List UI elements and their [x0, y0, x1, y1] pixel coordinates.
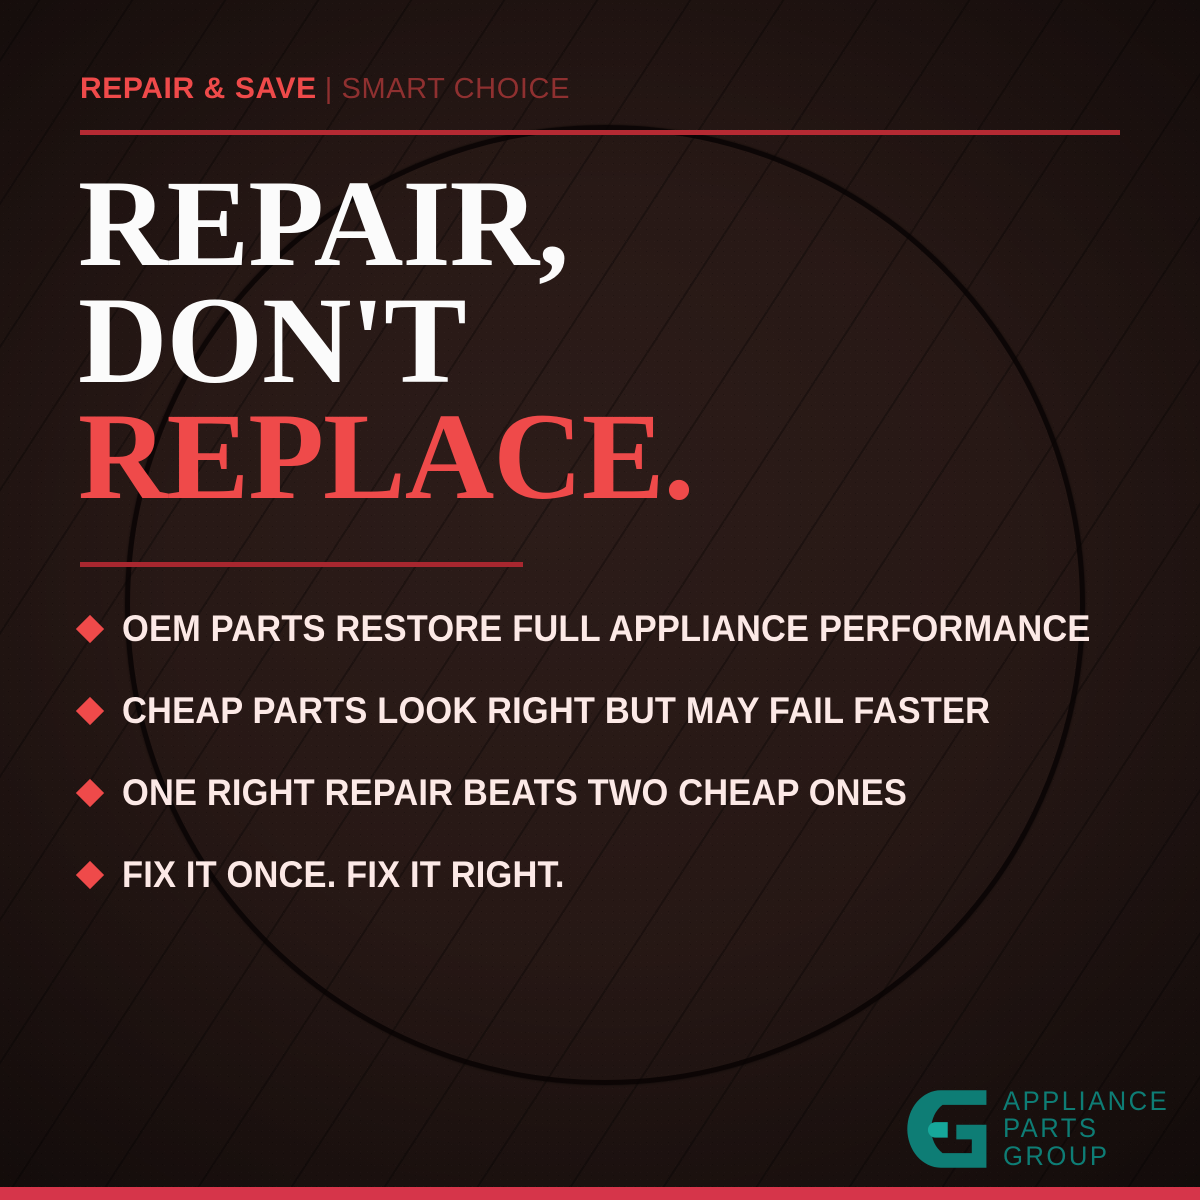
eyebrow: REPAIR & SAVE| SMART CHOICE [80, 74, 570, 104]
promo-poster: REPAIR & SAVE| SMART CHOICE REPAIR, DON'… [0, 0, 1200, 1200]
list-item: CHEAP PARTS LOOK RIGHT BUT MAY FAIL FAST… [80, 670, 1160, 752]
brand-logo-wordmark: APPLIANCE PARTS GROUP [1003, 1088, 1178, 1171]
diamond-marker-icon [76, 779, 104, 807]
divider-rule-top [80, 130, 1120, 135]
eyebrow-strong-label: REPAIR & SAVE [80, 72, 317, 105]
brand-line-2: PARTS [1003, 1115, 1169, 1143]
list-item: ONE RIGHT REPAIR BEATS TWO CHEAP ONES [80, 752, 1160, 834]
list-item-label: ONE RIGHT REPAIR BEATS TWO CHEAP ONES [122, 772, 907, 814]
list-item-label: OEM PARTS RESTORE FULL APPLIANCE PERFORM… [122, 608, 1091, 650]
list-item: OEM PARTS RESTORE FULL APPLIANCE PERFORM… [80, 588, 1160, 670]
diamond-marker-icon [76, 697, 104, 725]
eyebrow-muted-label: | SMART CHOICE [325, 73, 570, 105]
brand-line-1: APPLIANCE [1003, 1088, 1169, 1116]
diamond-marker-icon [76, 615, 104, 643]
list-item-label: CHEAP PARTS LOOK RIGHT BUT MAY FAIL FAST… [122, 690, 990, 732]
list-item-label: FIX IT ONCE. FIX IT RIGHT. [122, 854, 565, 896]
page-title: REPAIR, DON'T REPLACE. [78, 166, 1138, 516]
poster-content: REPAIR & SAVE| SMART CHOICE REPAIR, DON'… [0, 0, 1200, 1200]
g-monogram-icon [903, 1086, 989, 1172]
divider-rule-mid [80, 562, 523, 567]
benefits-list: OEM PARTS RESTORE FULL APPLIANCE PERFORM… [80, 588, 1160, 916]
headline-line-1: REPAIR, [78, 166, 1138, 283]
brand-logo: APPLIANCE PARTS GROUP [903, 1086, 1178, 1172]
brand-line-3: GROUP [1003, 1143, 1169, 1171]
list-item: FIX IT ONCE. FIX IT RIGHT. [80, 834, 1160, 916]
headline-line-3: REPLACE. [78, 399, 1138, 516]
headline-line-2: DON'T [78, 283, 1138, 400]
diamond-marker-icon [76, 861, 104, 889]
bottom-accent-stripe [0, 1187, 1200, 1200]
